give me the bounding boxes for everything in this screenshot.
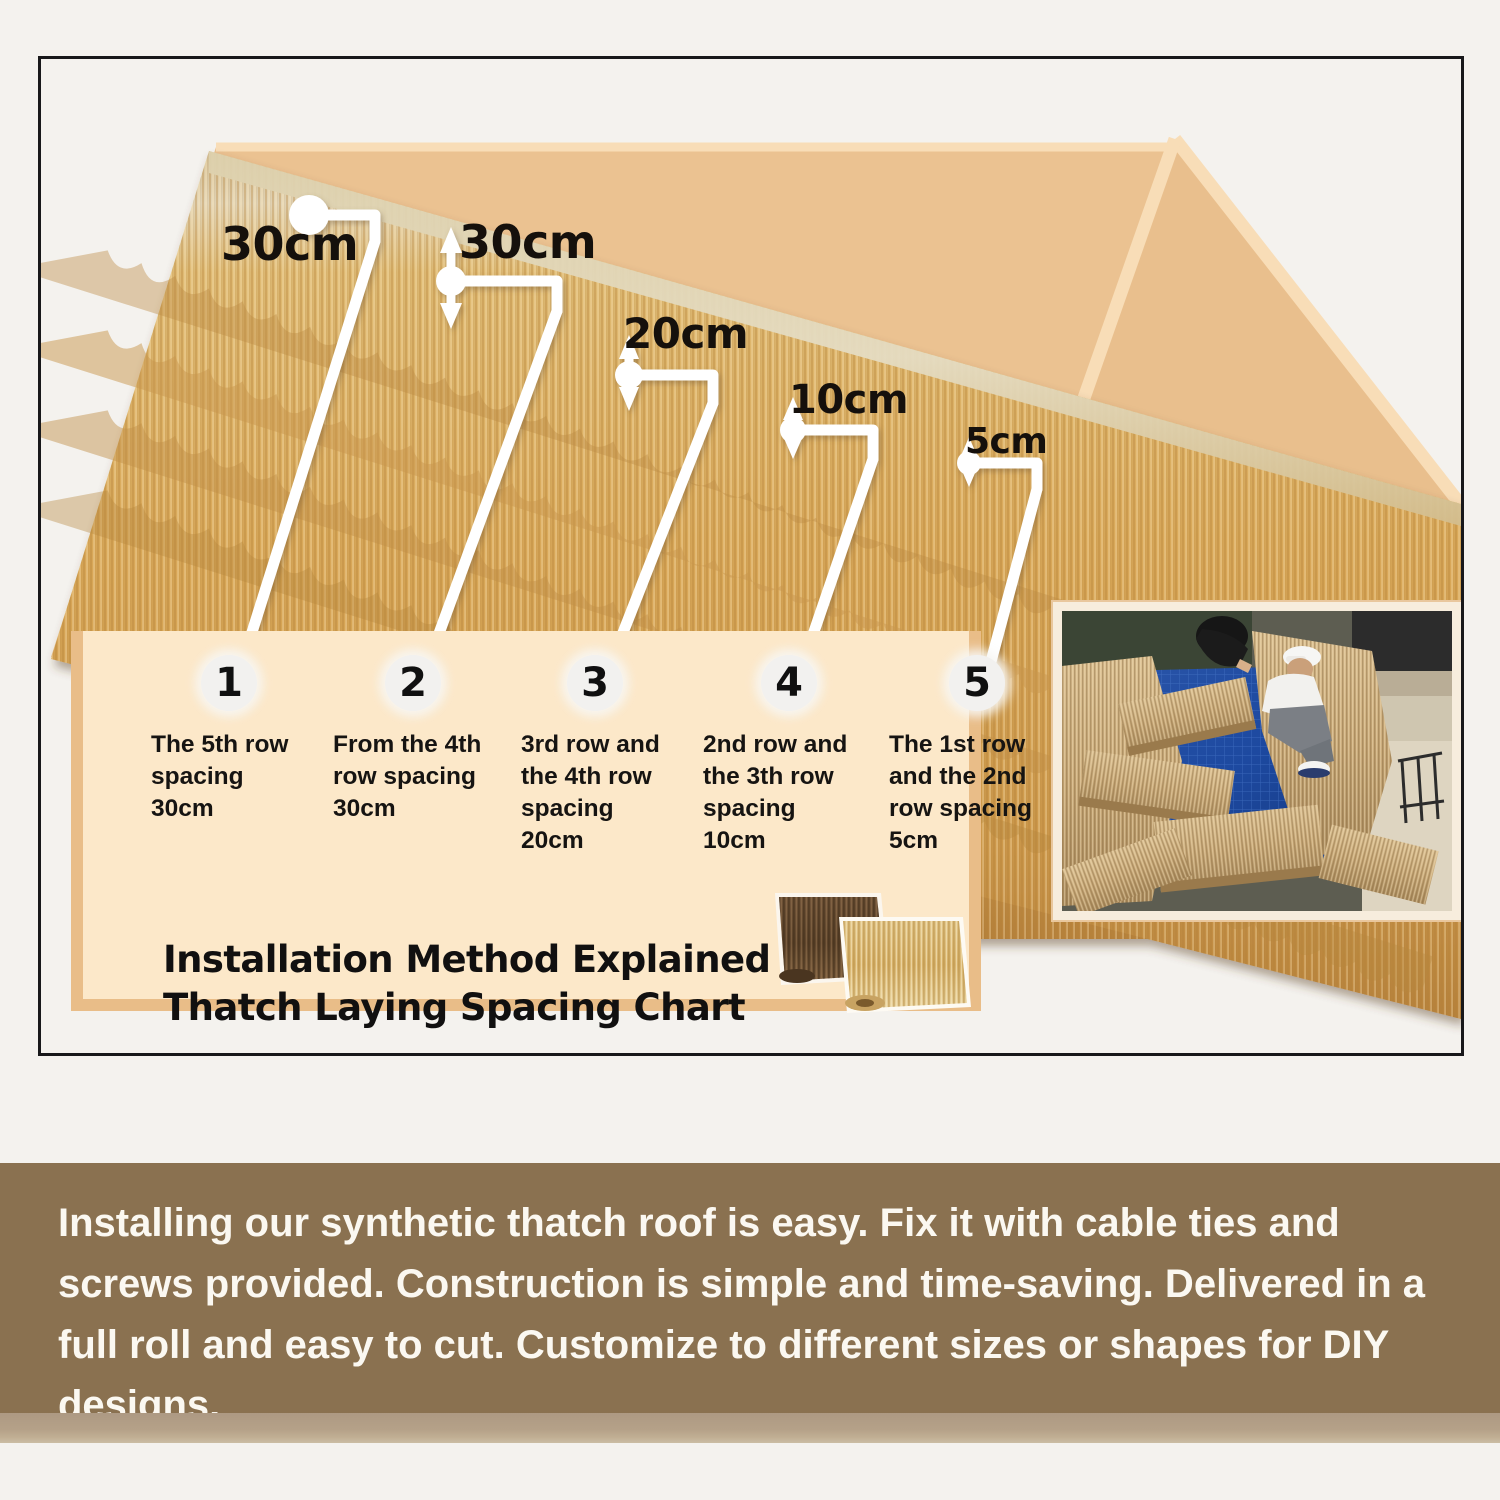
installation-photo-frame [1053, 602, 1461, 920]
step-badge-list: 1 2 3 4 5 [71, 631, 981, 711]
step-caption-1: The 5th row spacing 30cm [151, 729, 327, 825]
step-caption-3: 3rd row and the 4th row spacing 20cm [521, 729, 697, 856]
step-badge-3: 3 [567, 655, 623, 711]
banner-text: Installing our synthetic thatch roof is … [58, 1193, 1448, 1436]
golden-thatch-roll [839, 917, 971, 1013]
step-caption-4: 2nd row and the 3th row spacing 10cm [703, 729, 879, 856]
diagram-frame: 30cm 30cm 20cm 10cm 5cm The 5th row spac… [38, 56, 1464, 1056]
step-caption-2: From the 4th row spacing 30cm [333, 729, 509, 825]
step-badge-4: 4 [761, 655, 817, 711]
banner-bottom-strip [0, 1413, 1500, 1443]
bottom-banner: Installing our synthetic thatch roof is … [0, 1163, 1500, 1413]
panel-title: Installation Method Explained : Thatch L… [163, 936, 797, 1032]
installation-photo [1062, 611, 1452, 911]
step-badge-5: 5 [949, 655, 1005, 711]
thatch-sample-bundles [763, 881, 993, 1021]
step-badge-2: 2 [385, 655, 441, 711]
step-caption-5: The 1st row and the 2nd row spacing 5cm [889, 729, 1065, 856]
installation-photo-svg [1062, 611, 1452, 911]
step-badge-1: 1 [201, 655, 257, 711]
infographic-root: 30cm 30cm 20cm 10cm 5cm The 5th row spac… [0, 0, 1500, 1500]
